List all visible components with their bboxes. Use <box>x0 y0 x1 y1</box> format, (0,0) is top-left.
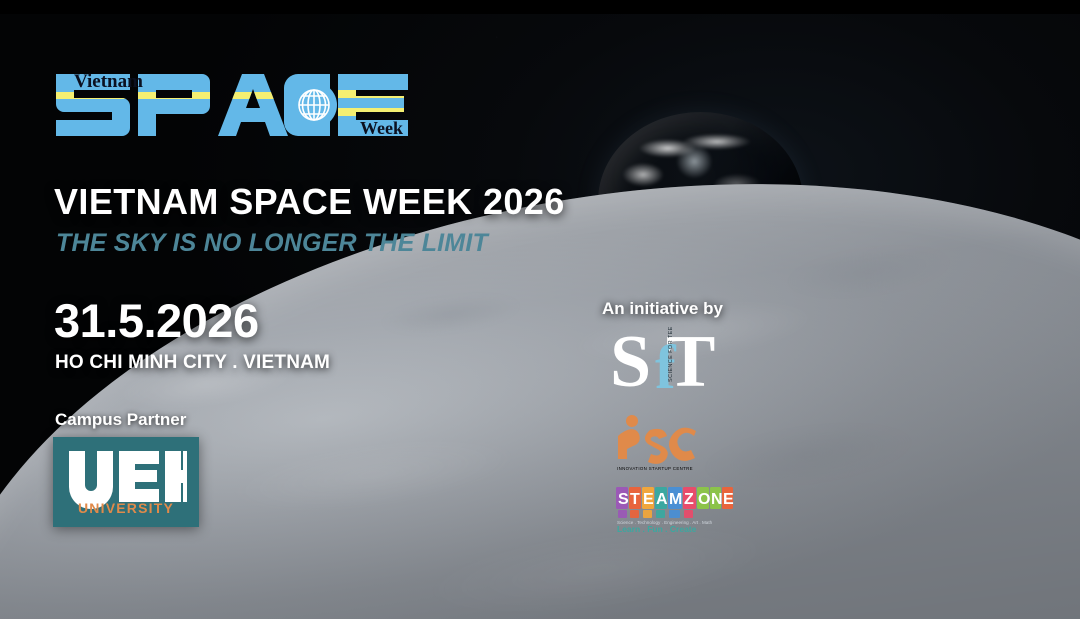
ueh-university-logo: UNIVERSITY <box>53 437 199 527</box>
isc-lettermark <box>618 415 696 464</box>
space-week-poster: Vietnam Week VIETNAM SPACE WEEK 2026 THE… <box>0 0 1080 619</box>
svg-text:T: T <box>630 491 640 508</box>
isc-tagline: INNOVATION STARTUP CENTRE <box>617 466 693 471</box>
svg-text:E: E <box>723 491 734 508</box>
svg-text:Z: Z <box>684 491 694 508</box>
svg-text:O: O <box>698 491 710 508</box>
steamzone-icon-strip <box>618 510 693 518</box>
globe-grid-icon <box>299 90 329 120</box>
logo-suffix-week: Week <box>360 118 403 138</box>
steamzone-tagline: Learn . Fun . Create <box>617 524 697 533</box>
steamzone-letters: S T E A M Z O N E <box>618 491 734 508</box>
sponsor-logo-steamzone: S T E A M Z O N E S <box>616 487 734 533</box>
ueh-subtitle: UNIVERSITY <box>78 500 174 515</box>
poster-content: Vietnam Week VIETNAM SPACE WEEK 2026 THE… <box>0 0 1080 619</box>
sponsor-logo-sft: S T f SCIENCE FOR TEENS <box>608 326 730 396</box>
sft-letter-s: S <box>610 326 651 396</box>
logo-prefix-vietnam: Vietnam <box>74 71 143 92</box>
sponsor-logo-isc: INNOVATION STARTUP CENTRE <box>612 412 698 474</box>
vietnam-space-week-logo: Vietnam Week <box>52 60 412 150</box>
svg-text:N: N <box>711 491 723 508</box>
event-date: 31.5.2026 <box>54 297 259 344</box>
tagline: THE SKY IS NO LONGER THE LIMIT <box>56 231 488 256</box>
svg-text:S: S <box>618 491 629 508</box>
svg-text:M: M <box>669 491 682 508</box>
sft-vertical-text: SCIENCE FOR TEENS <box>668 326 674 382</box>
logo-letter-p <box>132 74 222 136</box>
initiative-label: An initiative by <box>602 300 723 317</box>
svg-text:A: A <box>656 491 668 508</box>
letterbox-bar-top <box>0 0 1080 14</box>
svg-text:E: E <box>643 491 654 508</box>
page-title: VIETNAM SPACE WEEK 2026 <box>54 184 565 220</box>
event-location: HO CHI MINH CITY . VIETNAM <box>55 353 330 372</box>
campus-partner-label: Campus Partner <box>55 411 186 428</box>
logo-letter-a <box>212 74 296 136</box>
logo-letter-c <box>284 74 337 136</box>
